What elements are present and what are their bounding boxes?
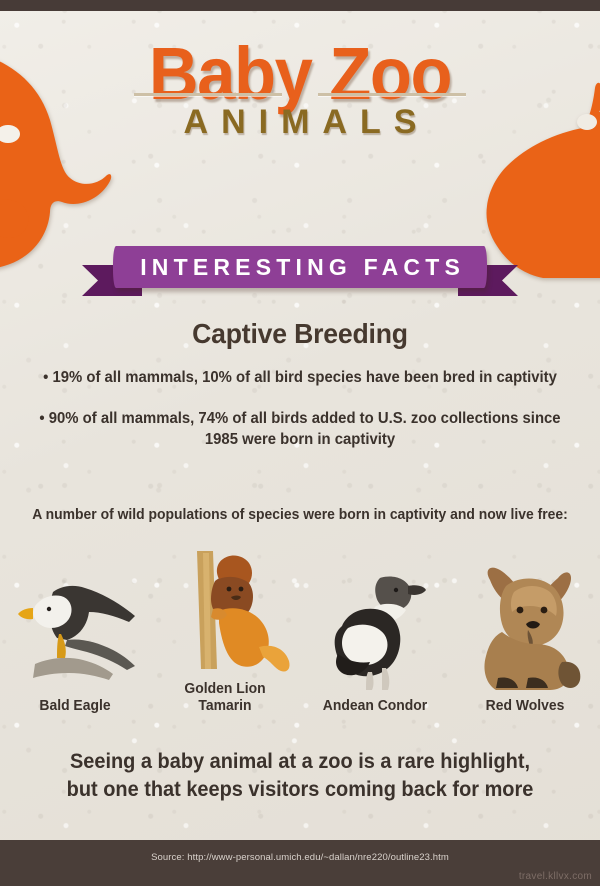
footer-bar: Source: http://www-personal.umich.edu/~d… bbox=[0, 840, 600, 886]
animal-gallery: Bald Eagle Golden Lion Tamarin bbox=[0, 548, 600, 716]
andean-condor-photo bbox=[305, 565, 445, 690]
animal-caption: Bald Eagle bbox=[8, 698, 142, 715]
watermark: travel.kllvx.com bbox=[519, 871, 592, 882]
list-item: • 90% of all mammals, 74% of all birds a… bbox=[31, 409, 569, 451]
ribbon-label: INTERESTING FACTS bbox=[135, 254, 465, 281]
red-wolves-photo bbox=[455, 565, 595, 690]
list-item: • 19% of all mammals, 10% of all bird sp… bbox=[14, 368, 586, 389]
animal-caption: Red Wolves bbox=[458, 698, 592, 715]
golden-lion-tamarin-photo bbox=[155, 548, 295, 673]
interesting-facts-ribbon: INTERESTING FACTS bbox=[0, 243, 600, 305]
title-rules bbox=[0, 93, 600, 96]
list-item: Bald Eagle bbox=[5, 565, 145, 715]
page-subtitle: ANIMALS bbox=[0, 103, 600, 142]
animal-caption: Golden Lion Tamarin bbox=[158, 681, 292, 716]
page-title: Baby Zoo bbox=[21, 38, 579, 109]
bullet-text: 90% of all mammals, 74% of all birds add… bbox=[49, 410, 561, 448]
tagline: Seeing a baby animal at a zoo is a rare … bbox=[15, 748, 585, 803]
bullet-text: 19% of all mammals, 10% of all bird spec… bbox=[52, 369, 556, 386]
facts-list: • 19% of all mammals, 10% of all bird sp… bbox=[0, 368, 600, 451]
wild-populations-note: A number of wild populations of species … bbox=[12, 505, 588, 525]
bald-eagle-photo bbox=[5, 565, 145, 690]
infographic-poster: Baby Zoo ANIMALS INTERESTING FACTS Capti… bbox=[0, 0, 600, 886]
title-rule-right bbox=[318, 93, 466, 96]
list-item: Red Wolves bbox=[455, 565, 595, 715]
list-item: Andean Condor bbox=[305, 565, 445, 715]
masthead: Baby Zoo bbox=[0, 38, 600, 109]
animal-caption: Andean Condor bbox=[308, 698, 442, 715]
source-citation: Source: http://www-personal.umich.edu/~d… bbox=[0, 852, 600, 863]
list-item: Golden Lion Tamarin bbox=[155, 548, 295, 716]
tagline-line-1: Seeing a baby animal at a zoo is a rare … bbox=[15, 748, 585, 776]
top-bar bbox=[0, 0, 600, 11]
tagline-line-2: but one that keeps visitors coming back … bbox=[15, 776, 585, 804]
ribbon-band: INTERESTING FACTS bbox=[113, 246, 487, 288]
title-rule-left bbox=[134, 93, 282, 96]
section-heading: Captive Breeding bbox=[15, 318, 585, 350]
